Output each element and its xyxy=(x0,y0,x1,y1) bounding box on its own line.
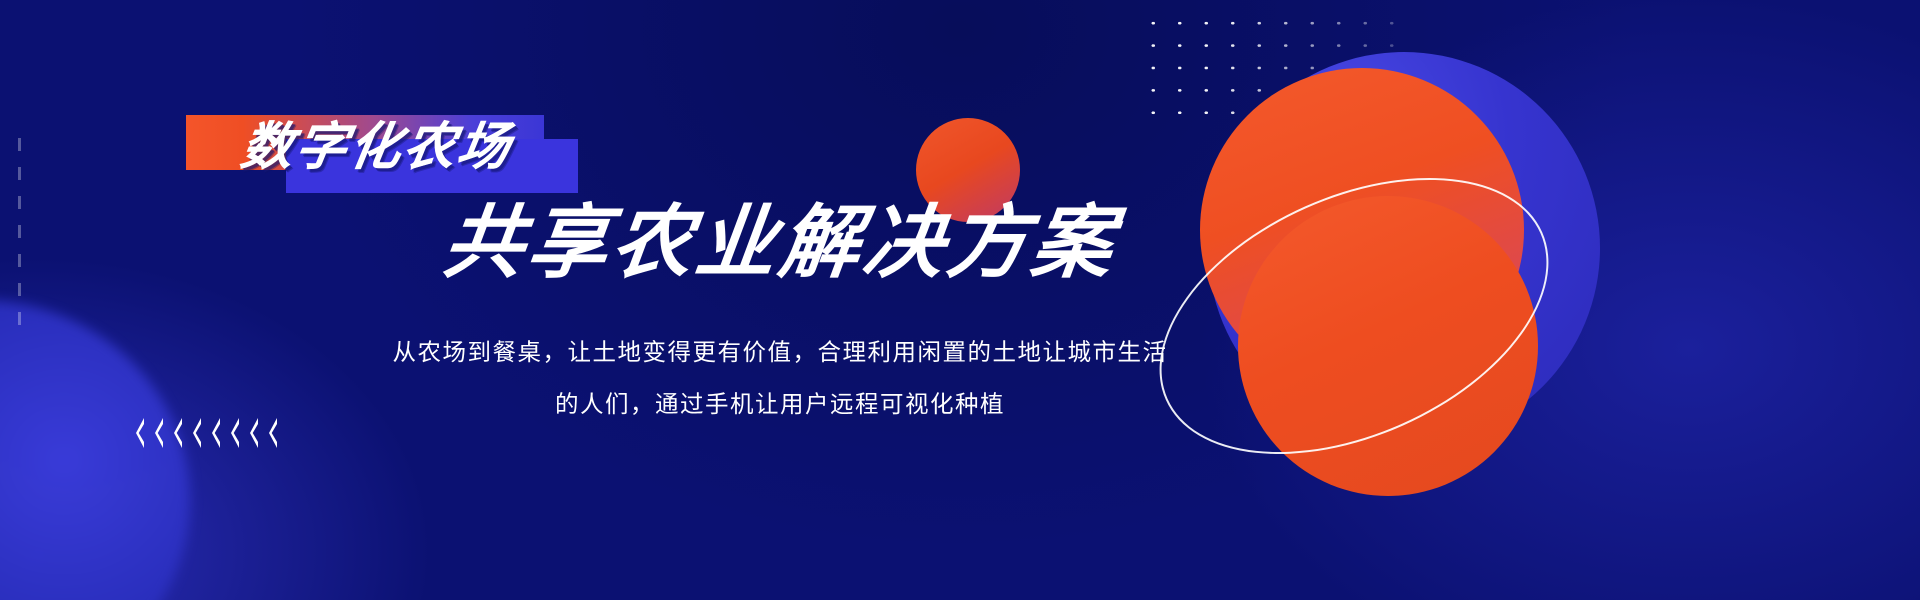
page-title: 共享农业解决方案 xyxy=(0,200,1565,286)
chevron-left-icon xyxy=(174,418,182,448)
chevron-left-icon xyxy=(212,418,220,448)
chevron-left-icon xyxy=(193,418,201,448)
banner-root: 数字化农场 共享农业解决方案 从农场到餐桌，让土地变得更有价值，合理利用闲置的土… xyxy=(0,0,1920,600)
chevron-left-icon xyxy=(136,418,144,448)
subtitle-line-1: 从农场到餐桌，让土地变得更有价值，合理利用闲置的土地让城市生活 xyxy=(0,326,1560,378)
chevron-group xyxy=(136,412,296,454)
chevron-left-icon xyxy=(250,418,258,448)
background-vignette xyxy=(0,0,1920,600)
category-tag: 数字化农场 xyxy=(186,115,586,193)
chevron-left-icon xyxy=(231,418,239,448)
chevron-left-icon xyxy=(155,418,163,448)
chevron-left-icon xyxy=(269,418,277,448)
tag-label: 数字化农场 xyxy=(238,121,516,172)
